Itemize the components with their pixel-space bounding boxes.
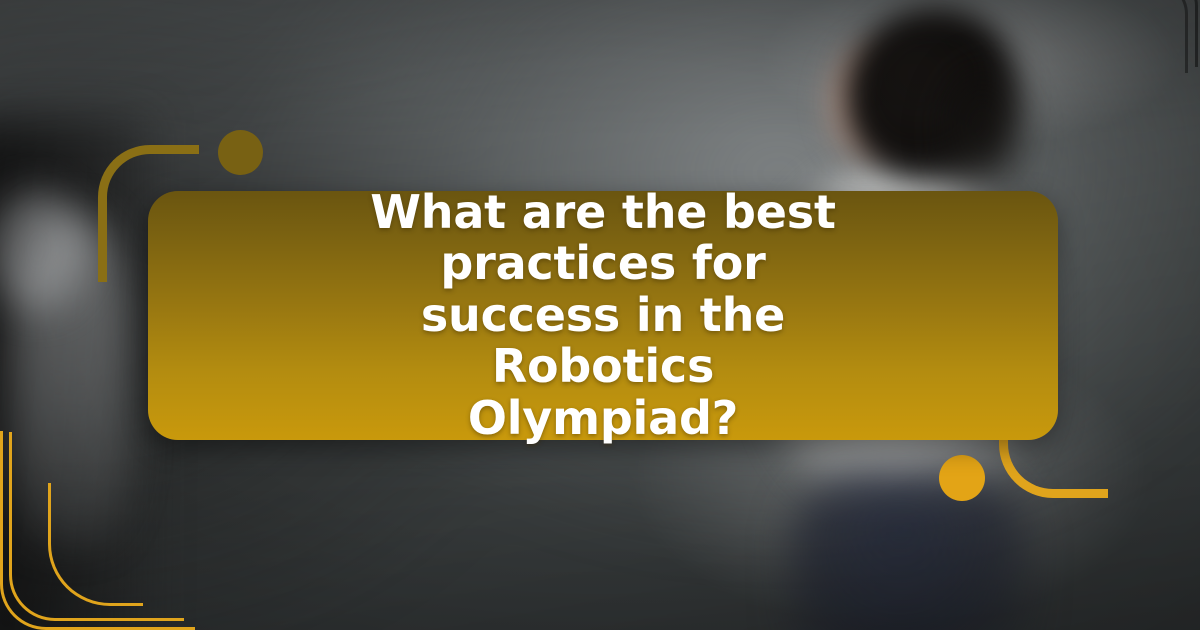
corner-frame-line-top-right-inner — [1007, 0, 1188, 73]
title-card: What are the best practices for success … — [148, 191, 1058, 440]
accent-dot-bottom-right — [939, 455, 985, 501]
page-title: What are the best practices for success … — [368, 187, 838, 445]
accent-dot-top-left — [218, 130, 263, 175]
share-card-canvas: What are the best practices for success … — [0, 0, 1200, 630]
